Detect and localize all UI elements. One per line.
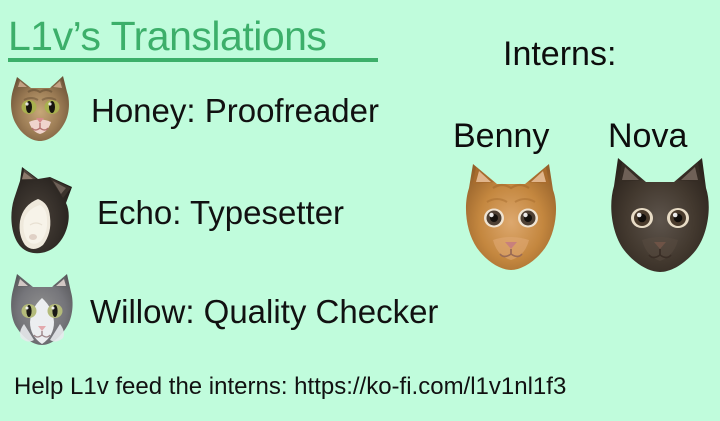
staff-label: Honey: Proofreader: [91, 94, 379, 127]
orange-kitten-face-icon: [457, 158, 565, 276]
page-title: L1v’s Translations: [8, 16, 326, 57]
black-kitten-face-icon: [604, 152, 716, 278]
tabby-cat-face-icon: [0, 70, 80, 150]
intern-name-nova: Nova: [608, 119, 687, 153]
staff-label: Echo: Typesetter: [97, 196, 344, 229]
title-underline: [8, 58, 378, 62]
support-footer-text: Help L1v feed the interns: https://ko-fi…: [14, 375, 566, 399]
staff-row: Honey: Proofreader: [0, 70, 379, 150]
intern-name-benny: Benny: [453, 119, 549, 153]
tuxedo-cat-face-icon: [0, 163, 88, 261]
staff-row: Willow: Quality Checker: [0, 268, 438, 354]
interns-heading: Interns:: [503, 37, 616, 71]
staff-label: Willow: Quality Checker: [90, 295, 438, 328]
grey-white-cat-face-icon: [0, 268, 84, 354]
translation-credits-card: L1v’s Translations: [0, 0, 720, 421]
staff-row: Echo: Typesetter: [0, 163, 344, 261]
